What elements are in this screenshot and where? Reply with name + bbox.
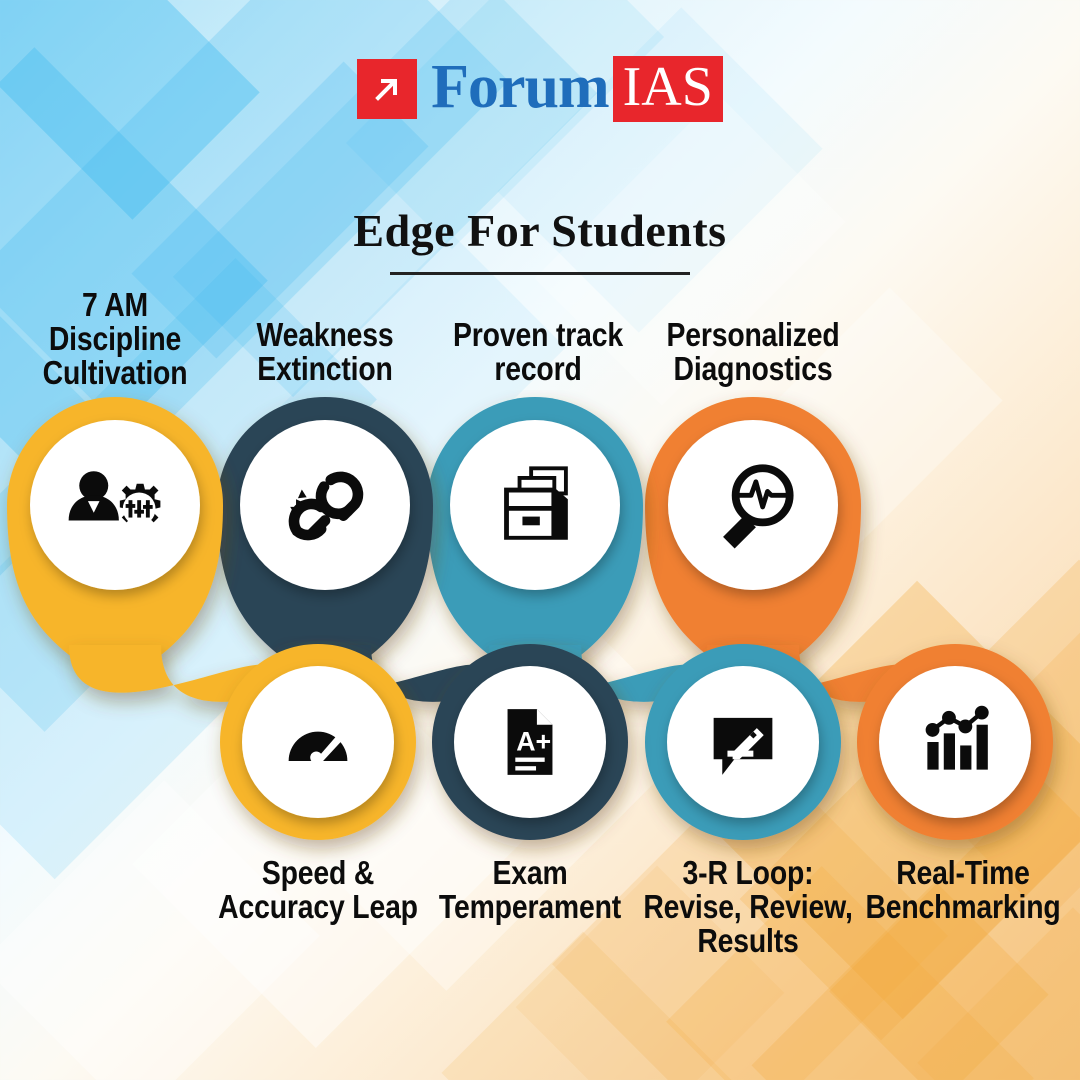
flow-label-bottom-3: Real-Time Benchmarking — [791, 856, 1080, 924]
flow-node-top-2[interactable] — [450, 420, 620, 590]
flow-node-bottom-2[interactable] — [667, 666, 819, 818]
page-title: Edge For Students — [0, 204, 1080, 257]
flow-label-top-3: Personalized Diagnostics — [581, 318, 925, 386]
flow-node-top-0[interactable] — [30, 420, 200, 590]
flow-node-top-1[interactable] — [240, 420, 410, 590]
brand-name-secondary: IAS — [613, 56, 723, 122]
brand-logo: Forum IAS — [0, 56, 1080, 122]
document-a-plus-grade-icon: A+ — [508, 709, 553, 775]
brand-name-primary: Forum — [431, 56, 609, 122]
flow-node-bottom-1[interactable]: A+ — [454, 666, 606, 818]
svg-text:A+: A+ — [516, 727, 551, 757]
title-underline — [390, 272, 690, 275]
flow-node-top-3[interactable] — [668, 420, 838, 590]
flow-diagram: A+ — [0, 390, 1080, 910]
flow-node-bottom-3[interactable] — [879, 666, 1031, 818]
arrow-up-right-icon — [357, 59, 417, 119]
flow-node-bottom-0[interactable] — [242, 666, 394, 818]
